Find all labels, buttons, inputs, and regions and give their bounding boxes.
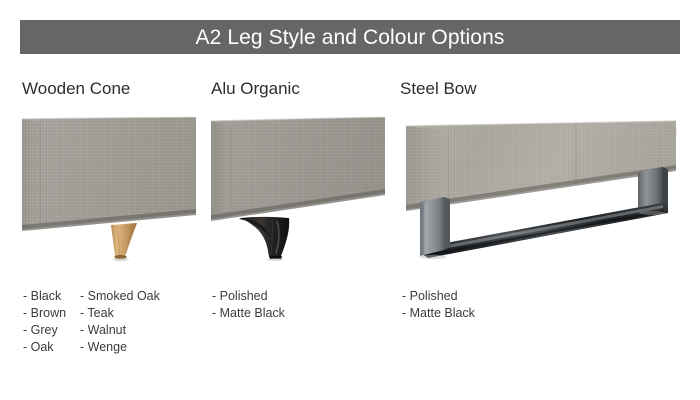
page-header-banner: A2 Leg Style and Colour Options [20, 20, 680, 54]
column-heading-alu-organic: Alu Organic [211, 80, 300, 97]
option-item: - Matte Black [402, 305, 475, 322]
option-item: - Brown [23, 305, 66, 322]
option-item: - Teak [80, 305, 160, 322]
option-item: - Smoked Oak [80, 288, 160, 305]
column-heading-steel-bow: Steel Bow [400, 80, 477, 97]
option-item: - Polished [212, 288, 285, 305]
option-item: - Polished [402, 288, 475, 305]
option-item: - Matte Black [212, 305, 285, 322]
steel-bow-options-column-1: - Polished - Matte Black [402, 288, 475, 322]
page-title: A2 Leg Style and Colour Options [196, 27, 505, 48]
option-item: - Walnut [80, 322, 160, 339]
option-item: - Grey [23, 322, 66, 339]
column-heading-wooden-cone: Wooden Cone [22, 80, 130, 97]
option-item: - Oak [23, 339, 66, 356]
alu-organic-leg-photo [211, 117, 385, 262]
wooden-cone-options-column-2: - Smoked Oak - Teak - Walnut - Wenge [80, 288, 160, 356]
wooden-cone-leg-photo [22, 117, 196, 262]
steel-bow-leg-photo [400, 117, 680, 262]
alu-organic-options-column-1: - Polished - Matte Black [212, 288, 285, 322]
wooden-cone-options-column-1: - Black - Brown - Grey - Oak [23, 288, 66, 356]
option-item: - Black [23, 288, 66, 305]
option-item: - Wenge [80, 339, 160, 356]
